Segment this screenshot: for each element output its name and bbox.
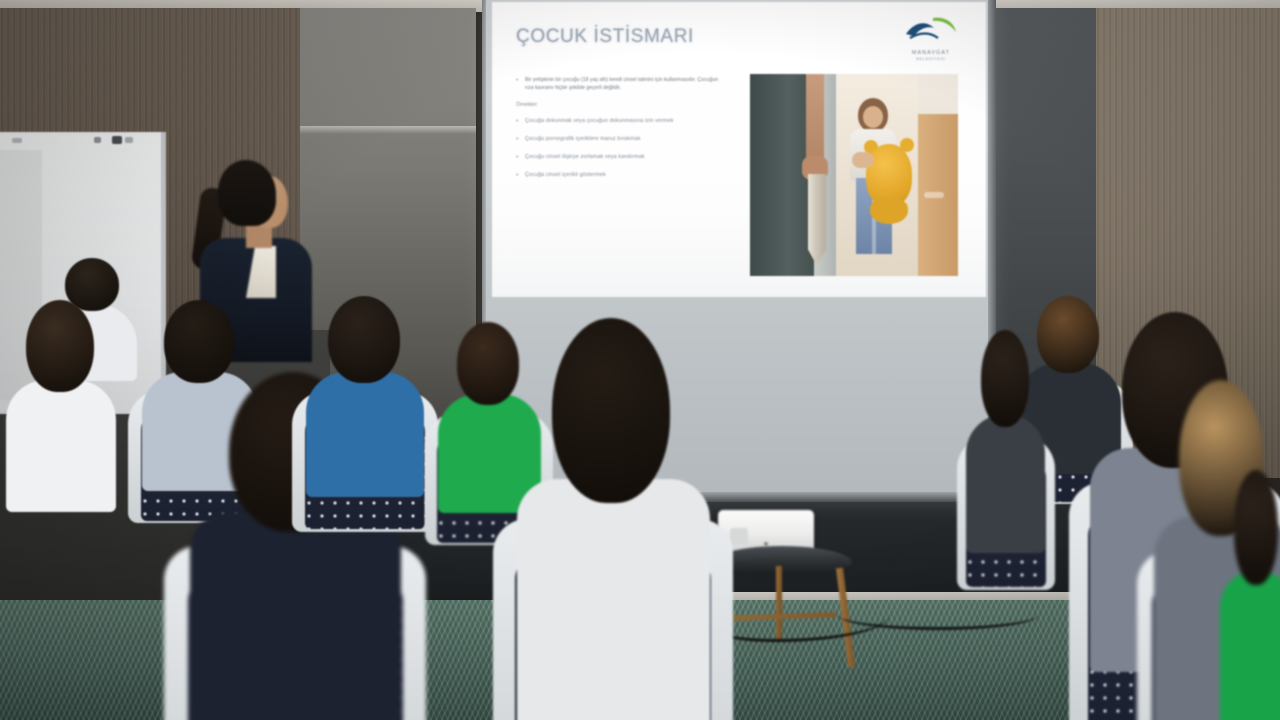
photo-belt	[808, 174, 826, 266]
slide-bullet: • Çocuğu pornografik içeriklere maruz bı…	[516, 135, 728, 144]
attendee-left-white	[0, 300, 120, 500]
flipchart-clip-icon	[12, 138, 22, 143]
power-cable	[838, 600, 1038, 630]
flipchart-clip-icon	[112, 136, 122, 144]
slide-bullet-text: Çocuğu pornografik içeriklere maruz bıra…	[525, 135, 641, 144]
slide-bullet: • Çocuğa cinsel içerikli göstermek	[516, 171, 728, 180]
bullet-dot-icon: •	[516, 117, 520, 126]
attendee-head	[328, 296, 400, 383]
attendee-torso	[966, 414, 1045, 553]
manavgat-belediyesi-logo: MANAVGAT BELEDİYESİ	[900, 12, 962, 68]
slide-bullet: • Çocuğa dokunmak veya çocuğun dokunması…	[516, 117, 728, 126]
presenter-hair	[218, 160, 276, 226]
slide-lead-text: Bir yetişkinin bir çocuğu (18 yaş altı) …	[525, 76, 728, 92]
flipchart-clip-icon	[94, 137, 101, 143]
presentation-room-scene: ÇOCUK İSTİSMARI MANAVGAT BELEDİYESİ • Bi…	[0, 0, 1280, 720]
slide-examples-label: Örnekler:	[516, 102, 728, 108]
slide-title: ÇOCUK İSTİSMARI	[516, 26, 694, 48]
bullet-dot-icon: •	[516, 171, 520, 180]
attendee-head	[981, 330, 1029, 427]
attendee-right-vest	[962, 330, 1048, 540]
photo-teddy-leg	[870, 198, 908, 224]
attendee-head	[552, 318, 670, 503]
photo-child-arm	[852, 152, 874, 168]
presentation-slide: ÇOCUK İSTİSMARI MANAVGAT BELEDİYESİ • Bi…	[492, 2, 986, 297]
bullet-dot-icon: •	[516, 153, 520, 162]
slide-body: • Bir yetişkinin bir çocuğu (18 yaş altı…	[516, 76, 728, 189]
slide-bullet-text: Çocuğa dokunmak veya çocuğun dokunmasına…	[525, 117, 674, 126]
photo-teddy-bear	[866, 144, 912, 206]
photo-furniture	[918, 114, 958, 276]
attendee-head	[164, 300, 235, 383]
flipchart-clip-icon	[125, 137, 133, 143]
attendee-far-right-green	[1216, 470, 1280, 720]
attendee-blue-polo	[300, 296, 428, 486]
attendee-torso	[517, 479, 710, 720]
side-table-top	[712, 546, 852, 574]
attendee-torso	[306, 372, 424, 497]
attendee-head	[26, 300, 93, 392]
logo-name-text: MANAVGAT	[900, 50, 962, 56]
attendee-torso	[1220, 570, 1280, 720]
slide-bullet: • Çocuğu cinsel ilişkiye zorlamak veya k…	[516, 153, 728, 162]
bullet-dot-icon: •	[516, 76, 520, 92]
bullet-dot-icon: •	[516, 135, 520, 144]
logo-subtitle-text: BELEDİYESİ	[900, 57, 962, 61]
attendee-head	[1234, 470, 1279, 585]
attendee-torso	[6, 380, 116, 512]
slide-lead-bullet: • Bir yetişkinin bir çocuğu (18 yaş altı…	[516, 76, 728, 92]
logo-mark-icon	[900, 12, 962, 52]
slide-bullet-text: Çocuğa cinsel içerikli göstermek	[525, 171, 606, 180]
slide-photo	[750, 74, 958, 276]
attendee-white-polo	[506, 318, 716, 720]
attendee-torso	[190, 511, 402, 720]
slide-bullet-text: Çocuğu cinsel ilişkiye zorlamak veya kan…	[525, 153, 645, 162]
photo-child-face	[863, 106, 883, 128]
